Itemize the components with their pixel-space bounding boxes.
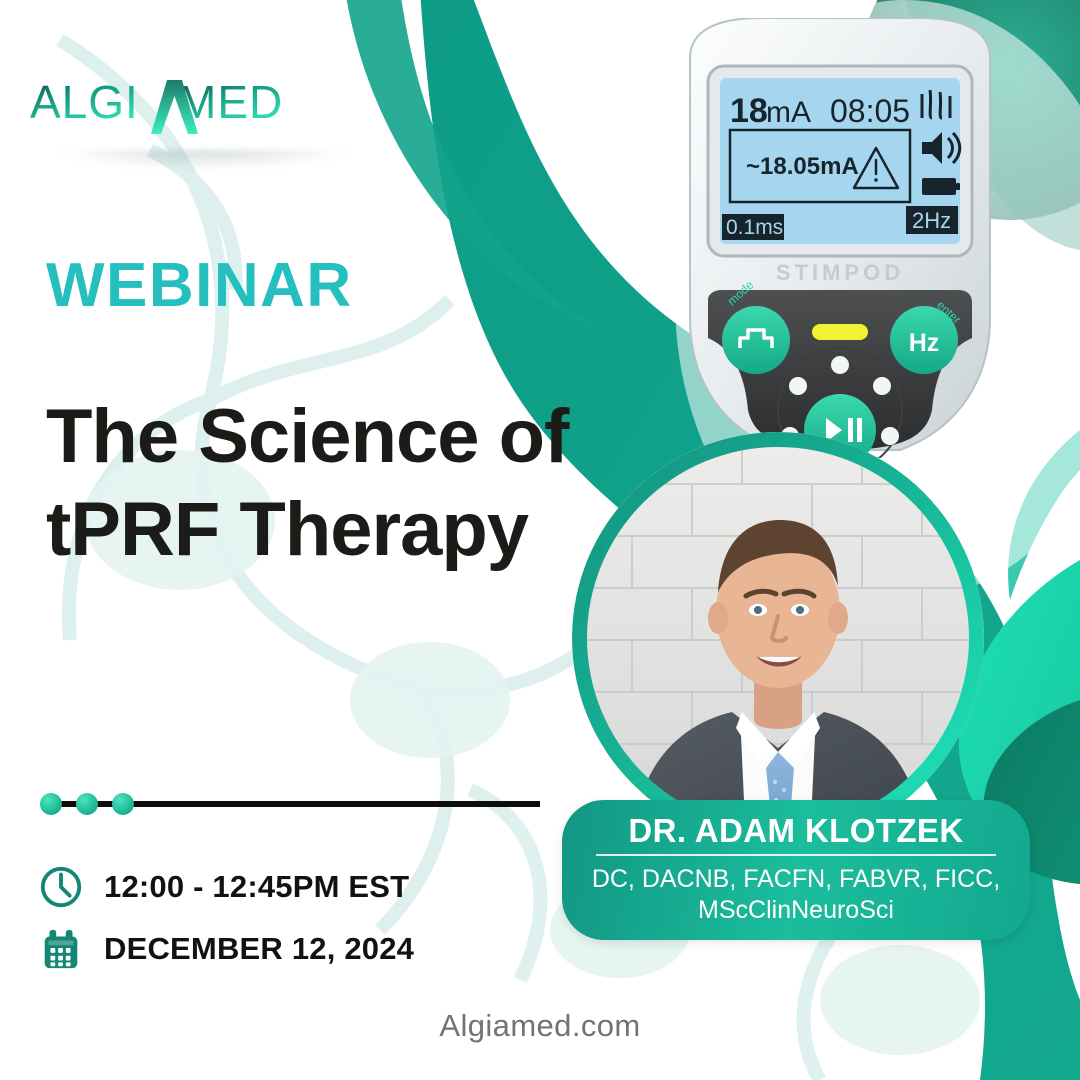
nav-dot-downright[interactable] [881,427,899,445]
algiamed-logo-mark: ALGI MED [30,72,330,144]
divider-dot [112,793,134,815]
brand-logo: ALGI MED [30,72,330,144]
battery-icon [922,178,960,195]
device-brand-label: STIMPOD [776,260,904,285]
date-row: DECEMBER 12, 2024 [38,918,414,980]
headline-line-1: The Science of [46,394,568,479]
section-divider [40,792,540,816]
speaker-name-card: DR. ADAM KLOTZEK DC, DACNB, FACFN, FABVR… [562,800,1030,940]
speaker-name: DR. ADAM KLOTZEK [628,814,963,847]
pulse-mode-button[interactable] [722,306,790,374]
nav-dot-upright[interactable] [873,377,891,395]
screen-current-unit: mA [766,96,811,129]
nav-dot-upleft[interactable] [789,377,807,395]
clock-icon [38,864,84,910]
screen-measured-value: ~18.05mA [746,153,859,180]
website-url[interactable]: Algiamed.com [0,1008,1080,1044]
time-row: 12:00 - 12:45PM EST [38,856,414,918]
divider-dot [40,793,62,815]
webinar-poster: ALGI MED WEBINAR The Science of tPRF The… [0,0,1080,1080]
screen-current-value: 18 [730,92,768,130]
calendar-icon [38,926,84,972]
webinar-date: DECEMBER 12, 2024 [104,931,414,967]
headline-line-2: tPRF Therapy [46,483,646,576]
schedule-info: 12:00 - 12:45PM EST DECEMBER 12, 2024 [38,856,414,980]
status-indicator-light [812,324,868,340]
speaker-divider [596,854,996,856]
divider-dot [76,793,98,815]
screen-pulse-width: 0.1ms [726,216,783,239]
speaker-credentials: DC, DACNB, FACFN, FABVR, FICC, MScClinNe… [576,864,1016,927]
nav-dot-up[interactable] [831,356,849,374]
eyebrow-webinar: WEBINAR [46,255,353,317]
frequency-button-label: Hz [909,329,940,357]
screen-frequency: 2Hz [912,208,951,233]
svg-text:ALGI: ALGI [30,76,139,128]
logo-shadow [54,150,354,170]
screen-timer: 08:05 [830,93,910,129]
webinar-time: 12:00 - 12:45PM EST [104,869,409,905]
page-title: The Science of tPRF Therapy [46,390,646,577]
portrait-ring [572,432,984,844]
stimpod-device: 18 mA 08:05 ~18.05mA 0.1ms 2Hz [660,18,1020,458]
